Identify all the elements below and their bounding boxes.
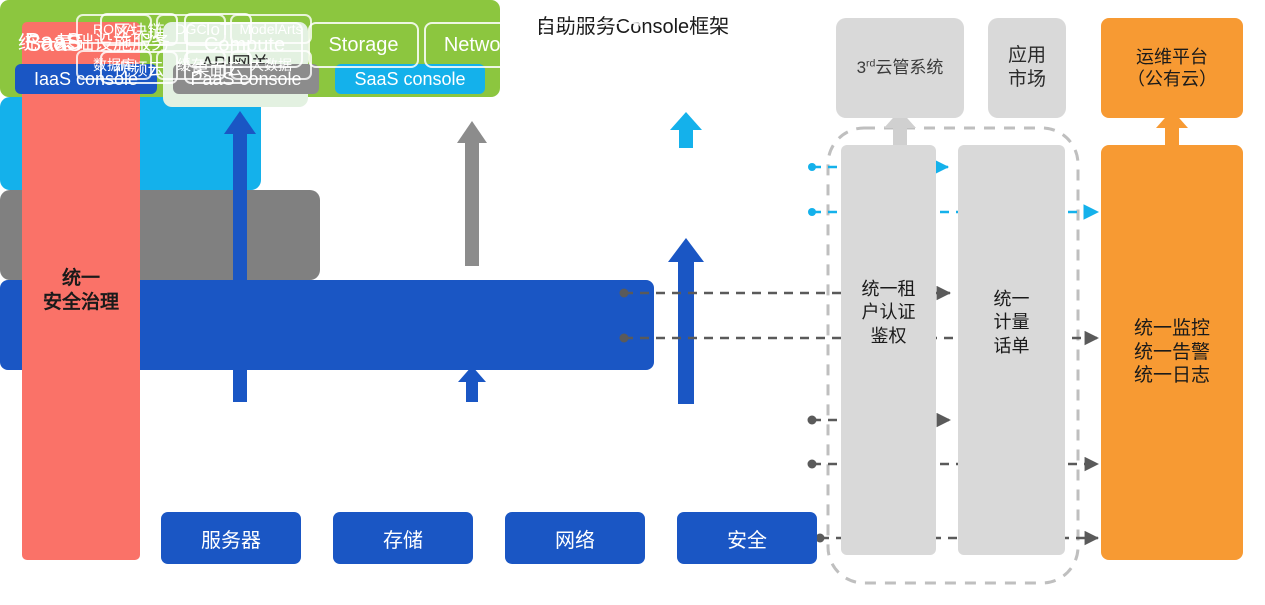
ops-platform-panel-label: 统一监控统一告警统一日志	[1134, 317, 1210, 388]
saas-console-button[interactable]: SaaS console	[335, 64, 485, 94]
third-party-rest: 云管系统	[875, 58, 943, 77]
dashed-origin-dot	[808, 163, 816, 171]
unified-infrastructure-service-label: 统一基础设施服务	[18, 28, 170, 55]
unified-security-governance-label: 统一安全治理	[43, 267, 119, 315]
app-market-box[interactable]: 应用市场	[988, 18, 1066, 118]
infra-item-cce[interactable]: CCE	[542, 22, 643, 68]
app-market-label: 应用市场	[1008, 44, 1046, 92]
resource-box-storage[interactable]: 存储	[333, 512, 473, 564]
infra-item-storage[interactable]: Storage	[308, 22, 419, 68]
unified-metering-label: 统一计量话单	[958, 288, 1065, 358]
dashed-origin-dot	[808, 460, 817, 469]
arrow-paas-to-console	[457, 121, 487, 266]
ops-platform-public-cloud-label: 运维平台（公有云）	[1127, 46, 1217, 91]
arrow-saas-to-console	[670, 112, 702, 148]
resource-box-server[interactable]: 服务器	[161, 512, 301, 564]
unified-tenant-auth-column[interactable]	[841, 145, 936, 555]
unified-tenant-auth-label: 统一租户认证鉴权	[841, 278, 936, 348]
arrow-infra-to-paas	[458, 366, 486, 402]
ops-platform-public-cloud-box[interactable]: 运维平台（公有云）	[1101, 18, 1243, 118]
infra-item-compute[interactable]: Compute	[186, 22, 303, 68]
infra-item-network[interactable]: Network	[424, 22, 537, 68]
dashed-origin-dot	[808, 208, 816, 216]
resource-box-network[interactable]: 网络	[505, 512, 645, 564]
ops-platform-panel[interactable]: 统一监控统一告警统一日志	[1101, 145, 1243, 560]
third-party-cloud-mgmt-box[interactable]: 3rd云管系统	[836, 18, 964, 118]
arrow-infra-to-saas	[668, 238, 704, 404]
third-party-cloud-mgmt-label: 3rd云管系统	[857, 57, 944, 78]
resource-box-security[interactable]: 安全	[677, 512, 817, 564]
unified-security-governance-panel[interactable]: 统一安全治理	[22, 22, 140, 560]
dashed-origin-dot	[808, 416, 817, 425]
third-party-prefix: 3	[857, 58, 866, 77]
diagram-canvas: 统一安全治理 API网关 自助服务Console框架 IaaS console …	[0, 0, 1265, 605]
